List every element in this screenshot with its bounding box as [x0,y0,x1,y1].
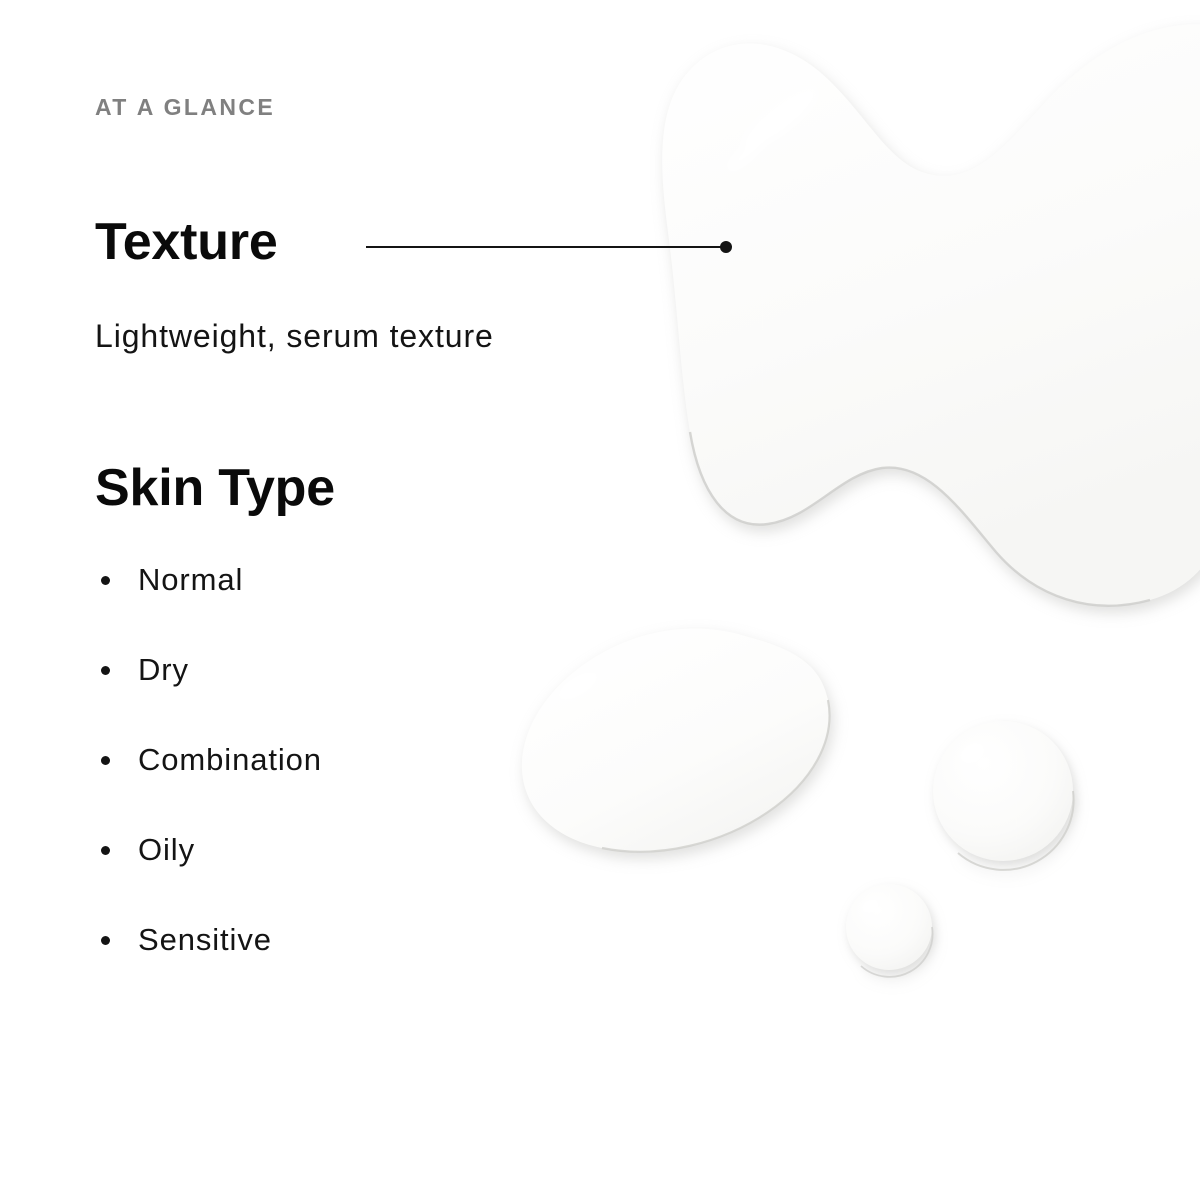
small-serum-droplet [846,884,933,977]
bullet-icon [101,756,110,765]
large-serum-droplet [933,721,1074,870]
list-item: Oily [95,828,322,918]
list-item-label: Normal [138,562,243,597]
callout-node-dot [720,241,732,253]
list-item-label: Combination [138,742,322,777]
bullet-icon [101,846,110,855]
medium-blob-highlight [555,667,602,706]
texture-callout-connector [366,241,732,253]
list-item-label: Oily [138,832,195,867]
list-item: Combination [95,738,322,828]
list-item: Dry [95,648,322,738]
skin-type-heading: Skin Type [95,462,335,514]
bullet-icon [101,576,110,585]
droplet-highlight [956,739,988,768]
list-item-label: Dry [138,652,189,687]
texture-heading: Texture [95,216,278,268]
blob-highlight [724,79,824,174]
medium-serum-blob [522,629,830,852]
bullet-icon [101,936,110,945]
bullet-icon [101,666,110,675]
at-a-glance-panel: AT A GLANCE Texture Lightweight, serum t… [0,0,1200,1200]
small-droplet-highlight [859,896,881,915]
section-eyebrow: AT A GLANCE [95,96,275,119]
large-serum-blob [662,24,1200,606]
list-item: Normal [95,558,322,648]
skin-type-list: Normal Dry Combination Oily Sensitive [95,558,322,1008]
list-item-label: Sensitive [138,922,272,957]
callout-line [366,246,726,248]
list-item: Sensitive [95,918,322,1008]
texture-description: Lightweight, serum texture [95,316,494,358]
